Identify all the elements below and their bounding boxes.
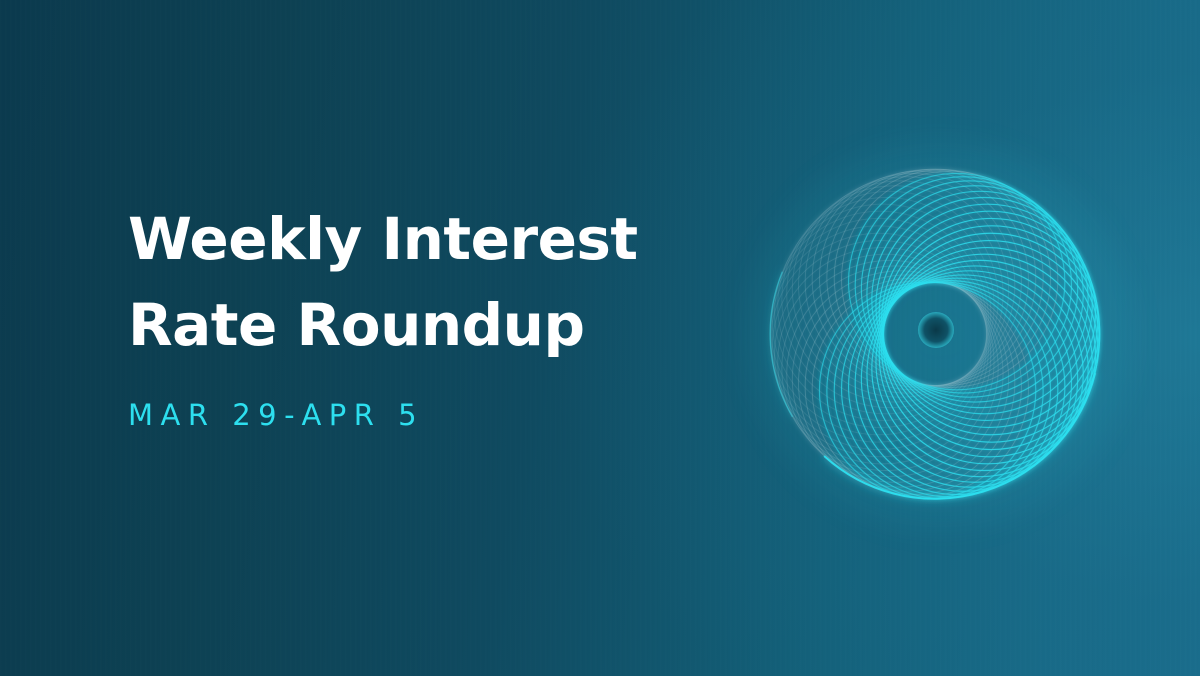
- poster-canvas: Weekly Interest Rate Roundup MAR 29-APR …: [0, 0, 1200, 676]
- text-block: Weekly Interest Rate Roundup MAR 29-APR …: [128, 196, 688, 432]
- headline-line-2: Rate Roundup: [128, 282, 688, 368]
- spirograph-dim-rings: [770, 169, 1058, 497]
- spirograph-graphic: [700, 95, 1180, 575]
- headline-line-1: Weekly Interest: [128, 196, 688, 282]
- page-title: Weekly Interest Rate Roundup: [128, 196, 688, 368]
- date-range-label: MAR 29-APR 5: [128, 368, 688, 432]
- spirograph-bright-rings: [819, 173, 1099, 498]
